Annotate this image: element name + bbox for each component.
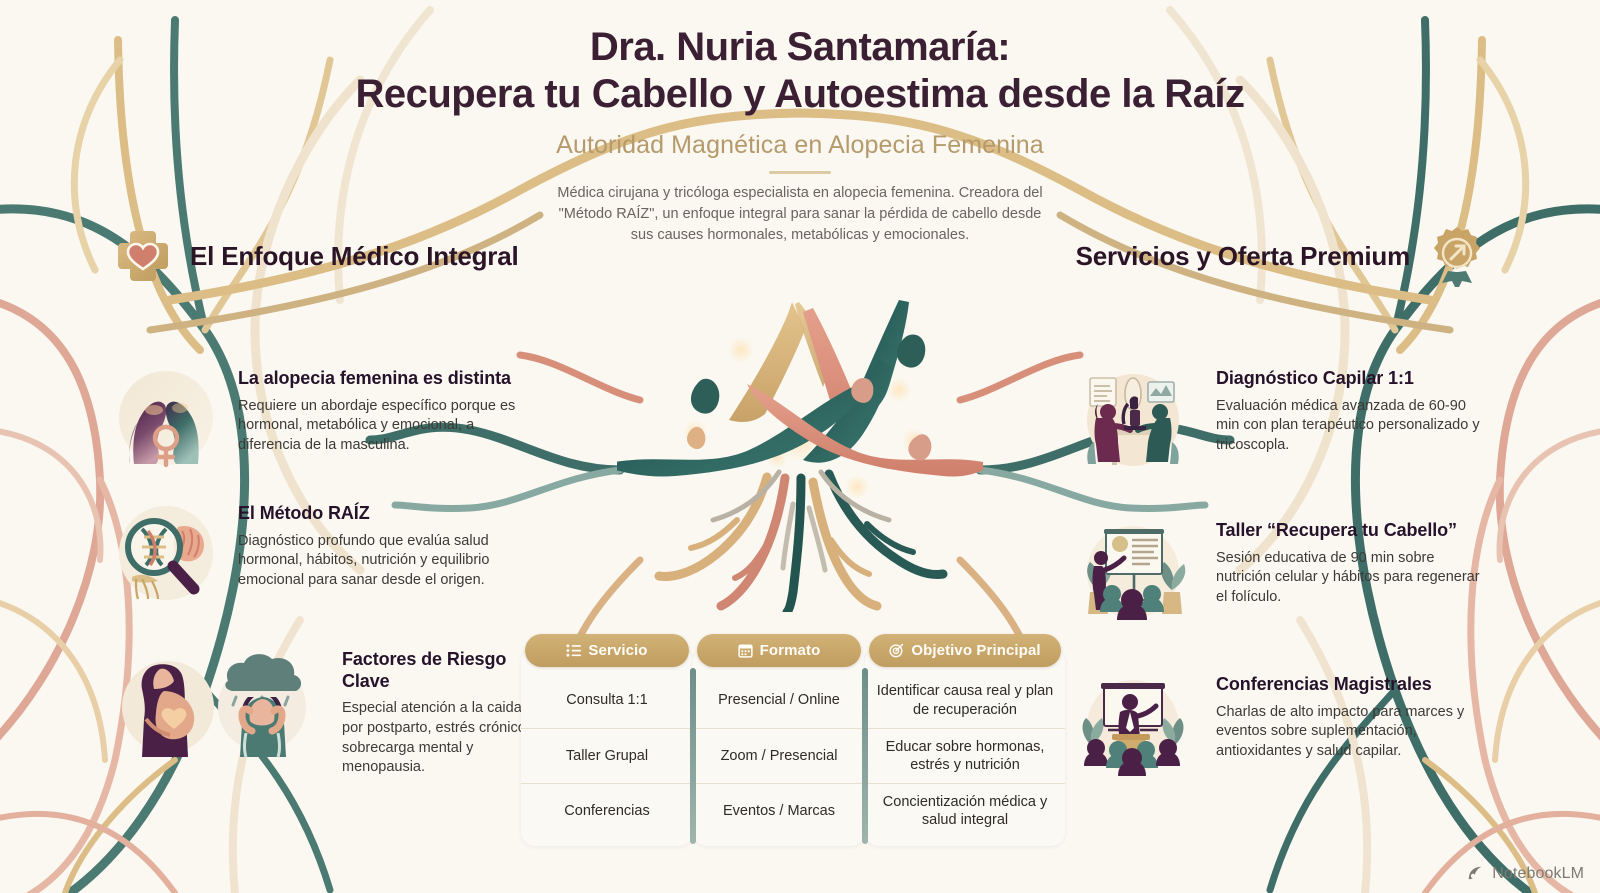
right-column-heading: Servicios y Oferta Premium xyxy=(1068,225,1488,287)
right-item-2: Taller “Recupera tu Cabello” Sesión educ… xyxy=(1068,516,1488,628)
right-item-1-desc: Evaluación médica avanzada de 60-90 min … xyxy=(1216,397,1488,456)
table-cells-formato: Presencial / Online Zoom / Presencial Ev… xyxy=(693,667,865,838)
left-item-1-desc: Requiere un abordaje específico porque e… xyxy=(238,397,532,456)
premium-badge-arrow-icon xyxy=(1426,225,1488,287)
table-cell: Conferencias xyxy=(521,783,693,838)
root-letter-emblem xyxy=(617,272,983,612)
right-item-1: Diagnóstico Capilar 1:1 Evaluación médic… xyxy=(1068,364,1488,476)
table-header-formato[interactable]: Formato xyxy=(697,634,861,667)
left-column: El Enfoque Médico Integral La alopeci xyxy=(112,225,532,778)
left-column-heading-label: El Enfoque Médico Integral xyxy=(190,241,519,271)
header: Dra. Nuria Santamaría: Recupera tu Cabel… xyxy=(0,26,1600,245)
header-divider xyxy=(769,171,831,174)
table-column-servicio: Servicio Consulta 1:1 Taller Grupal Conf… xyxy=(521,634,693,846)
table-cell: Presencial / Online xyxy=(693,673,865,728)
medical-cross-heart-icon xyxy=(112,225,174,287)
table-cells-servicio: Consulta 1:1 Taller Grupal Conferencias xyxy=(521,667,693,838)
table-cell: Eventos / Marcas xyxy=(693,783,865,838)
table-header-servicio[interactable]: Servicio xyxy=(525,634,689,667)
table-divider-2 xyxy=(862,668,868,844)
magnifier-dna-brain-icon xyxy=(112,499,220,607)
watermark-label: NotebookLM xyxy=(1492,865,1584,883)
workshop-presenter-icon xyxy=(1068,516,1198,628)
table-cell: Concientización médica y salud integral xyxy=(865,783,1065,838)
table-cell: Educar sobre hormonas, estrés y nutrició… xyxy=(865,728,1065,783)
left-item-2-desc: Diagnóstico profundo que evalúa salud ho… xyxy=(238,532,532,591)
left-item-1: La alopecia femenina es distinta Requier… xyxy=(112,364,532,472)
female-profiles-venus-icon xyxy=(112,364,220,472)
table-header-servicio-label: Servicio xyxy=(588,642,647,659)
pregnancy-stress-icon xyxy=(112,645,324,765)
table-column-objetivo: Objetivo Principal Identificar causa rea… xyxy=(865,634,1065,846)
list-icon xyxy=(566,643,581,658)
calendar-icon xyxy=(738,643,753,658)
table-column-formato: Formato Presencial / Online Zoom / Prese… xyxy=(693,634,865,846)
table-header-formato-label: Formato xyxy=(760,642,821,659)
table-header-objetivo[interactable]: Objetivo Principal xyxy=(869,634,1061,667)
consultation-microscope-icon xyxy=(1068,364,1198,476)
page-title-line2: Recupera tu Cabello y Autoestima desde l… xyxy=(0,73,1600,116)
right-item-3: Conferencias Magistrales Charlas de alto… xyxy=(1068,670,1488,782)
left-item-3-title: Factores de Riesgo Clave xyxy=(342,649,532,692)
left-item-1-title: La alopecia femenina es distinta xyxy=(238,368,532,390)
watermark: NotebookLM xyxy=(1466,864,1584,883)
notebooklm-logo-icon xyxy=(1466,864,1485,883)
table-cell: Consulta 1:1 xyxy=(521,673,693,728)
table-cell: Taller Grupal xyxy=(521,728,693,783)
right-column: Servicios y Oferta Premium xyxy=(1068,225,1488,782)
right-item-3-desc: Charlas de alto impacto para marces y ev… xyxy=(1216,703,1488,762)
right-item-3-title: Conferencias Magistrales xyxy=(1216,674,1488,696)
table-cell: Identificar causa real y plan de recuper… xyxy=(865,673,1065,728)
left-item-3: Factores de Riesgo Clave Especial atenci… xyxy=(112,645,532,778)
left-item-2-title: El Método RAÍZ xyxy=(238,503,532,525)
lecture-podium-icon xyxy=(1068,670,1198,782)
page-title-line1: Dra. Nuria Santamaría: xyxy=(0,26,1600,69)
table-header-objetivo-label: Objetivo Principal xyxy=(911,642,1040,659)
right-column-heading-label: Servicios y Oferta Premium xyxy=(1076,241,1410,271)
right-item-2-desc: Sesión educativa de 90 min sobre nutrici… xyxy=(1216,549,1488,608)
table-cells-objetivo: Identificar causa real y plan de recuper… xyxy=(865,667,1065,838)
right-item-1-title: Diagnóstico Capilar 1:1 xyxy=(1216,368,1488,390)
left-column-heading: El Enfoque Médico Integral xyxy=(112,225,532,287)
right-item-2-title: Taller “Recupera tu Cabello” xyxy=(1216,520,1488,542)
header-lead-paragraph: Médica cirujana y tricóloga especialista… xyxy=(550,183,1050,245)
left-item-3-desc: Especial atención a la caida por postpar… xyxy=(342,699,532,778)
left-item-2: El Método RAÍZ Diagnóstico profundo que … xyxy=(112,499,532,607)
table-divider-1 xyxy=(690,668,696,844)
infographic-canvas: Dra. Nuria Santamaría: Recupera tu Cabel… xyxy=(0,0,1600,893)
target-icon xyxy=(889,643,904,658)
services-comparison-table: Servicio Consulta 1:1 Taller Grupal Conf… xyxy=(521,634,1065,846)
table-cell: Zoom / Presencial xyxy=(693,728,865,783)
page-subtitle: Autoridad Magnética en Alopecia Femenina xyxy=(0,131,1600,160)
